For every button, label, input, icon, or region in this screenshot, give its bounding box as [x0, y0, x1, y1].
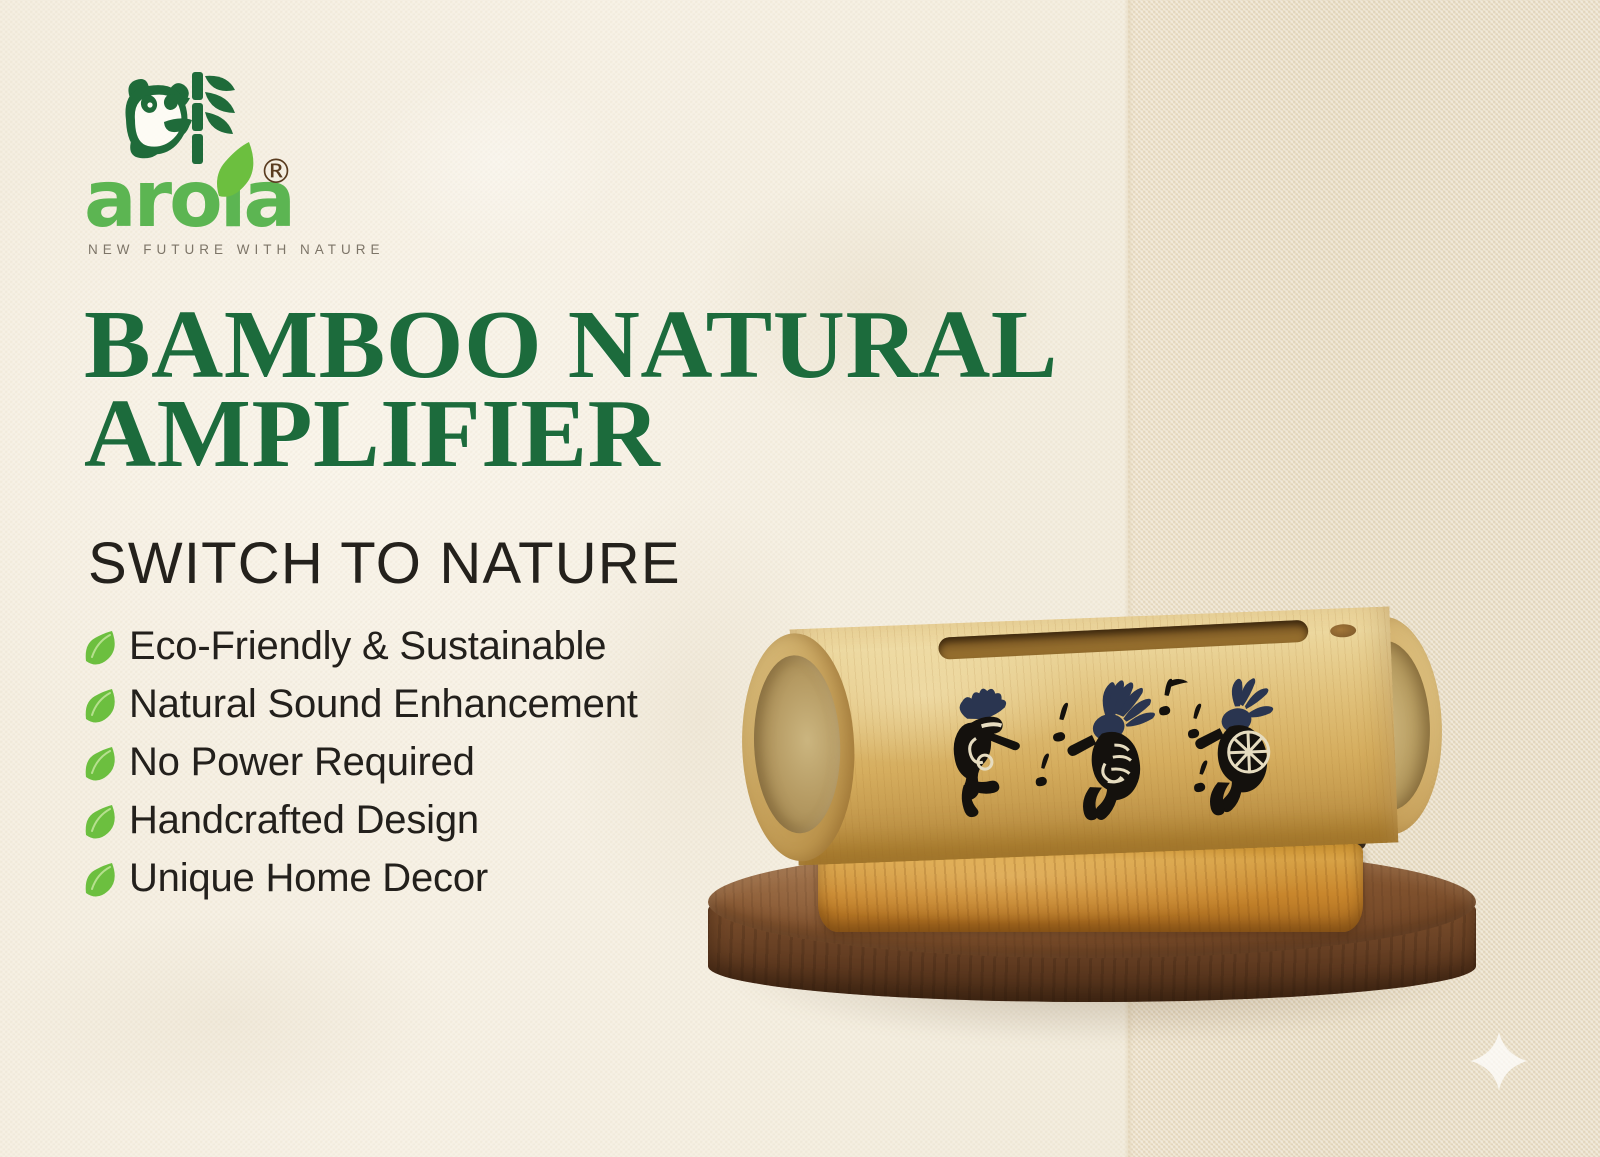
leaf-icon	[84, 687, 116, 721]
feature-label: No Power Required	[129, 740, 475, 785]
feature-label: Eco-Friendly & Sustainable	[129, 624, 606, 669]
kokopelli-figure-2	[1065, 679, 1159, 821]
feature-label: Handcrafted Design	[129, 798, 479, 843]
logo-wordmark-row: arola ®	[84, 164, 404, 236]
kokopelli-figure-3	[1193, 677, 1277, 816]
registered-trademark-symbol: ®	[259, 152, 293, 192]
headline-line-2: AMPLIFIER	[84, 389, 1114, 478]
kokopelli-carving	[908, 667, 1334, 843]
promo-banner: arola ® NEW FUTURE WITH NATURE BAMBOO NA…	[0, 0, 1600, 1157]
leaf-icon	[84, 629, 116, 663]
page-title: BAMBOO NATURAL AMPLIFIER	[84, 300, 1114, 478]
brand-logo[interactable]: arola ® NEW FUTURE WITH NATURE	[84, 68, 404, 257]
logo-leaf-icon	[215, 140, 257, 202]
feature-label: Natural Sound Enhancement	[129, 682, 638, 727]
leaf-icon	[84, 861, 116, 895]
bamboo-tube	[738, 605, 1447, 868]
kokopelli-figure-1	[951, 687, 1022, 817]
subtitle: SWITCH TO NATURE	[88, 530, 681, 597]
product-image	[690, 596, 1490, 1066]
headline-line-1: BAMBOO NATURAL	[84, 300, 1114, 389]
leaf-icon	[84, 745, 116, 779]
sparkle-icon	[1468, 1030, 1530, 1092]
feature-label: Unique Home Decor	[129, 856, 488, 901]
leaf-icon	[84, 803, 116, 837]
